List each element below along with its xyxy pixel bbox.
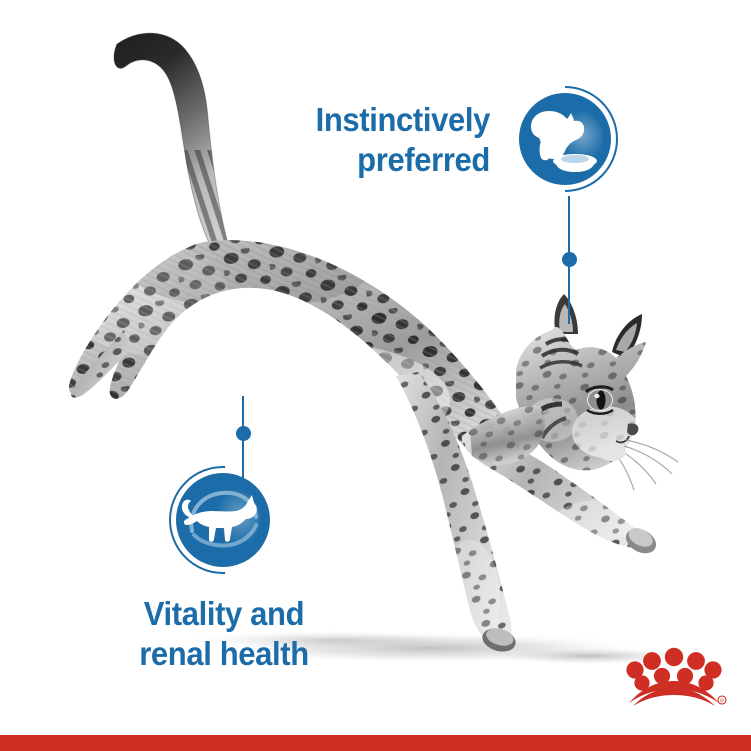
benefit-label-1-line2: preferred xyxy=(357,141,490,178)
benefit-connector-dot-2 xyxy=(236,426,251,441)
badge-circle-1 xyxy=(519,93,611,185)
benefit-connector-line-2 xyxy=(242,396,244,484)
benefit-label-2-line2: renal health xyxy=(139,635,309,672)
cat-photo xyxy=(0,0,751,751)
benefit-label-2-line1: Vitality and xyxy=(144,595,304,632)
brand-accent-bar xyxy=(0,735,751,751)
cat-chest xyxy=(470,406,545,465)
product-feature-panel: Instinctivelypreferred xyxy=(0,0,751,751)
cat-hind-leg xyxy=(60,320,150,415)
benefit-instinctively-preferred: Instinctivelypreferred xyxy=(0,0,751,751)
benefit-connector-line-1 xyxy=(568,196,570,324)
cat-tail xyxy=(100,20,240,280)
benefit-vitality-renal-health: Vitality andrenal health xyxy=(0,0,751,751)
cat-head xyxy=(505,294,678,490)
badge-arc-2 xyxy=(169,466,277,574)
cat-body xyxy=(50,225,570,515)
badge-arc-1 xyxy=(512,86,618,192)
cat-walking-vitality-icon xyxy=(176,473,270,567)
benefit-label-1-line1: Instinctively xyxy=(316,101,490,138)
cat-eating-from-bowl-icon xyxy=(519,93,611,185)
svg-text:R: R xyxy=(720,699,724,705)
royal-canin-crown-icon: R xyxy=(619,643,729,709)
cat-back-leg xyxy=(380,360,530,660)
cat-shadow xyxy=(180,630,695,665)
cat-front-leg xyxy=(450,420,660,560)
benefit-label-1: Instinctivelypreferred xyxy=(199,100,490,179)
benefit-label-2: Vitality andrenal health xyxy=(117,594,331,673)
registered-mark-icon: R xyxy=(718,696,726,705)
badge-circle-2 xyxy=(176,473,270,567)
benefit-connector-dot-1 xyxy=(562,252,577,267)
